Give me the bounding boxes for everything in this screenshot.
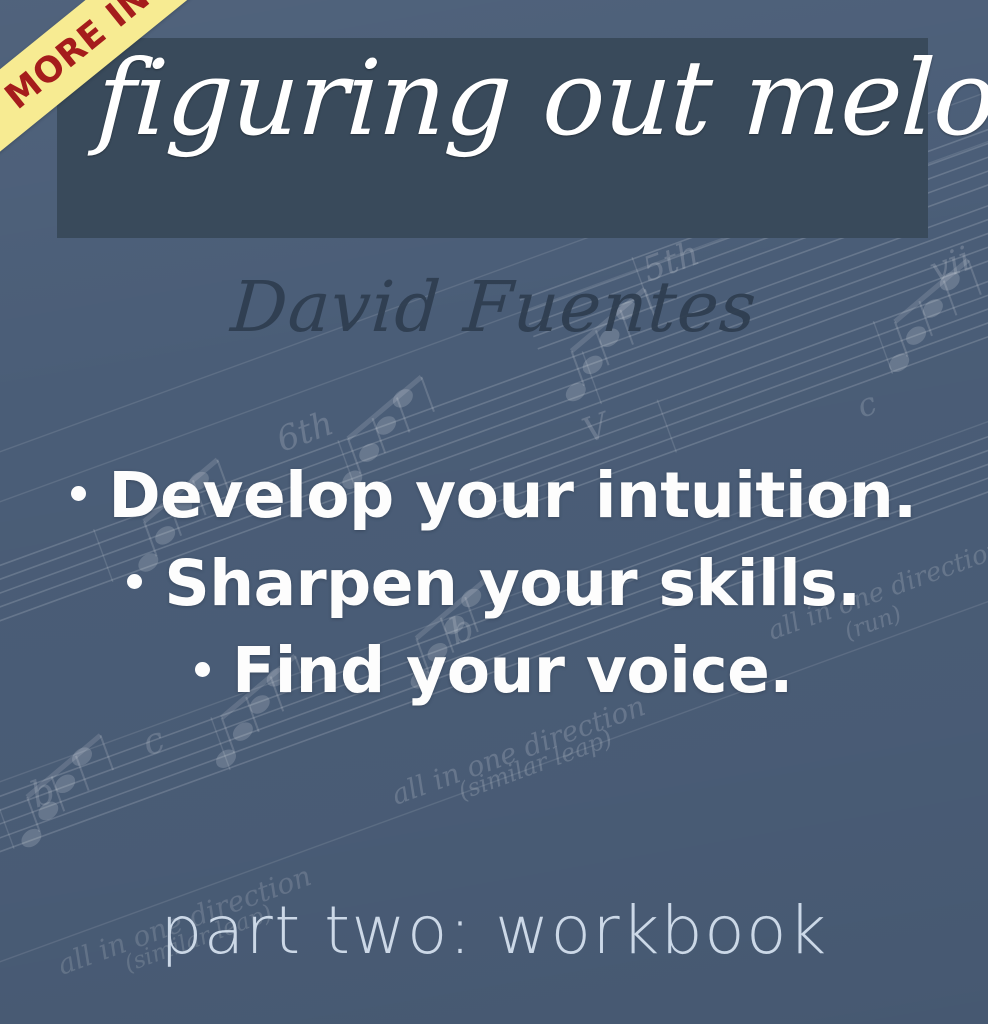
score-annotation: b (25, 770, 61, 816)
subtitle: part two: workbook (0, 898, 988, 964)
page-title: figuring out melody (94, 46, 979, 150)
list-item: Find your voice. (0, 627, 988, 715)
bullet-dot-icon (195, 662, 210, 677)
list-item: Sharpen your skills. (0, 540, 988, 628)
list-item: Develop your intuition. (0, 452, 988, 540)
list-item-label: Sharpen your skills. (164, 547, 860, 620)
score-annotation: c (852, 384, 882, 426)
list-item-label: Find your voice. (232, 634, 793, 707)
score-annotation: c (137, 719, 170, 764)
title-band: figuring out melody (57, 38, 928, 238)
feature-bullet-list: Develop your intuition. Sharpen your ski… (0, 452, 988, 715)
author-name: David Fuentes (0, 272, 988, 342)
bullet-dot-icon (71, 486, 86, 501)
book-cover: 5th 6th vii V b c c b all in one directi… (0, 0, 988, 1024)
score-annotation: V (577, 404, 617, 451)
score-annotation: (similar leap) (454, 724, 616, 806)
list-item-label: Develop your intuition. (108, 459, 916, 532)
bullet-dot-icon (127, 574, 142, 589)
